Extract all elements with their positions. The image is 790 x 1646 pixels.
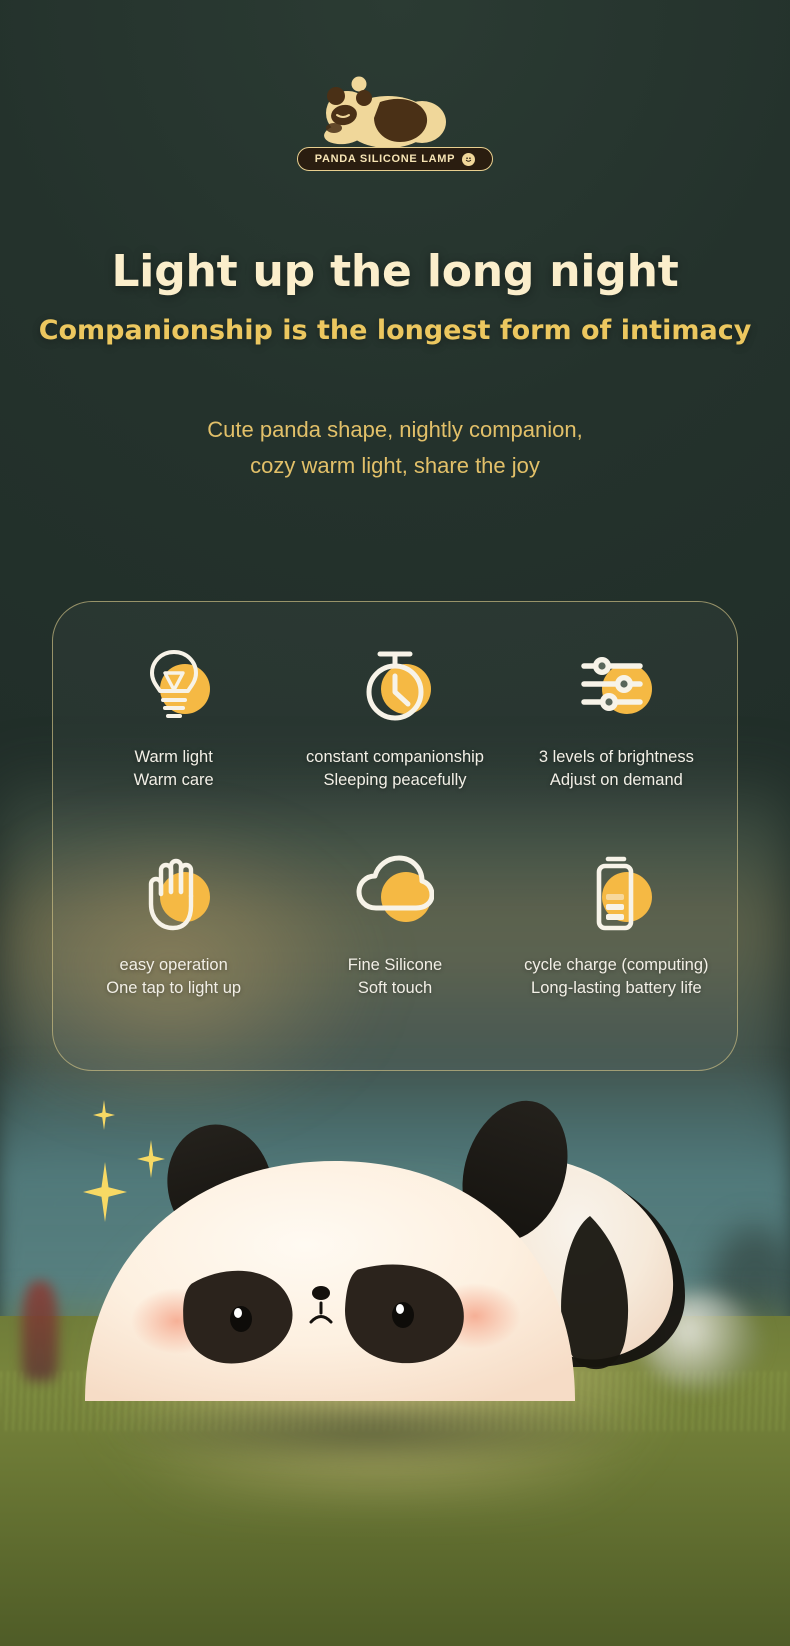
feature-label-line-2: One tap to light up	[106, 977, 241, 1000]
feature-label-line-1: 3 levels of brightness	[539, 746, 694, 769]
product-marketing-page: PANDA SILICONE LAMP Light up the long ni…	[0, 0, 790, 1646]
lightbulb-icon	[126, 646, 222, 730]
feature-panel: Warm light Warm care cons	[52, 601, 738, 1071]
feature-item-warm-light: Warm light Warm care	[63, 630, 284, 838]
page-tagline: Cute panda shape, nightly companion, coz…	[0, 412, 790, 484]
feature-label-line-2: Warm care	[134, 769, 214, 792]
panda-silicone-lamp	[45, 1011, 745, 1431]
feature-label-line-2: Sleeping peacefully	[323, 769, 466, 792]
feature-grid: Warm light Warm care cons	[53, 602, 737, 1070]
feature-label-line-1: cycle charge (computing)	[524, 954, 708, 977]
tagline-line-1: Cute panda shape, nightly companion,	[0, 412, 790, 448]
feature-item-brightness-levels: 3 levels of brightness Adjust on demand	[506, 630, 727, 838]
cloud-icon	[347, 854, 443, 938]
page-headline: Light up the long night	[0, 246, 790, 297]
feature-label-line-1: Warm light	[135, 746, 213, 769]
sleeping-panda-icon	[302, 62, 488, 158]
feature-label-line-1: easy operation	[120, 954, 228, 977]
product-photo	[0, 1086, 790, 1646]
battery-icon	[568, 854, 664, 938]
logo-plate-label: PANDA SILICONE LAMP	[315, 153, 455, 165]
smiley-face-icon	[462, 153, 475, 166]
sliders-icon	[568, 646, 664, 730]
feature-label-line-2: Adjust on demand	[550, 769, 683, 792]
brand-logo: PANDA SILICONE LAMP	[0, 62, 790, 171]
feature-item-constant-companionship: constant companionship Sleeping peaceful…	[284, 630, 505, 838]
feature-label-line-1: constant companionship	[306, 746, 484, 769]
feature-label-line-2: Soft touch	[358, 977, 432, 1000]
feature-label-line-1: Fine Silicone	[348, 954, 442, 977]
feature-label-line-2: Long-lasting battery life	[531, 977, 702, 1000]
tagline-line-2: cozy warm light, share the joy	[0, 448, 790, 484]
logo-name-plate: PANDA SILICONE LAMP	[297, 147, 493, 171]
page-subheadline: Companionship is the longest form of int…	[0, 315, 790, 346]
hand-tap-icon	[126, 854, 222, 938]
stopwatch-icon	[347, 646, 443, 730]
